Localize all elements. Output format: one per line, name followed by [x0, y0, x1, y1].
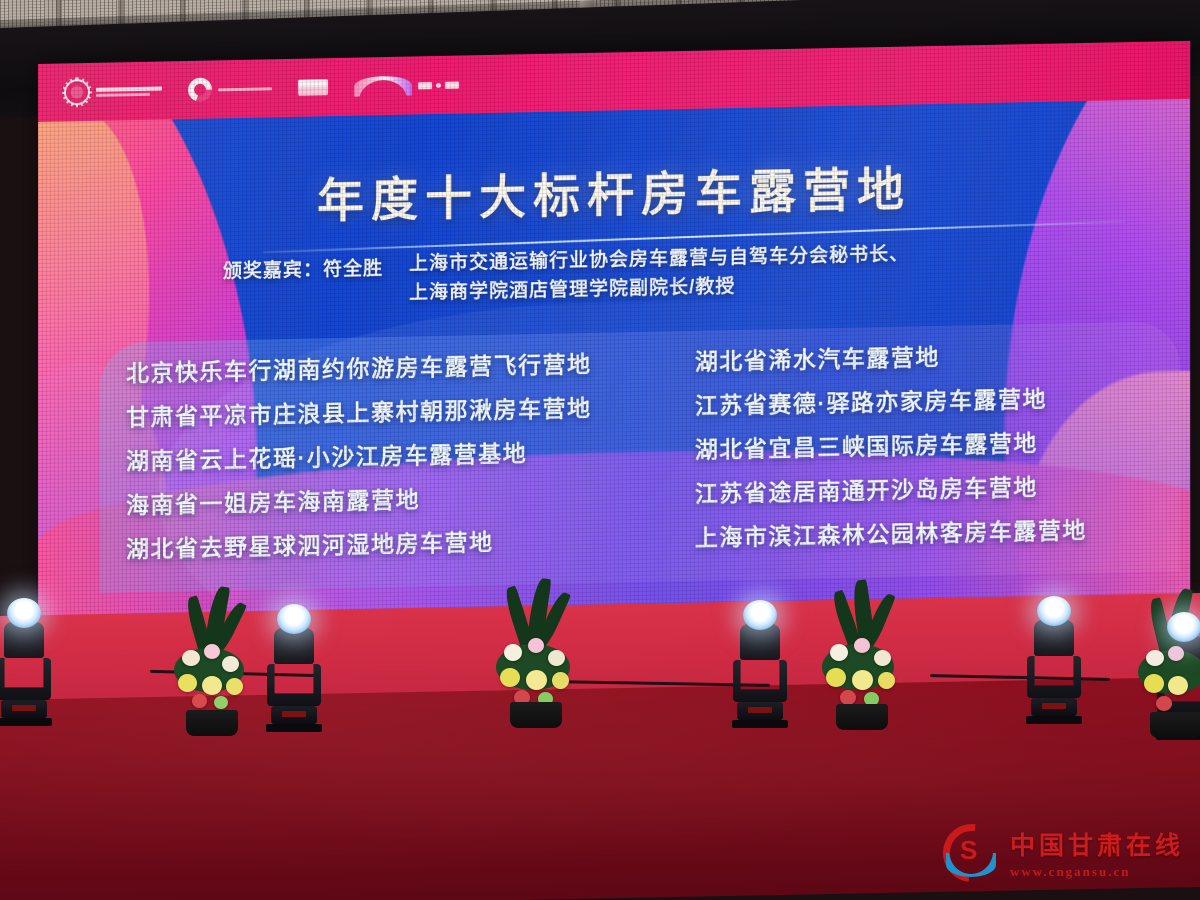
bloom	[826, 668, 846, 687]
gear-logo-wordmark	[96, 86, 162, 96]
gear-icon	[64, 79, 90, 106]
bloom	[192, 694, 207, 708]
flower-arrangement-4	[1120, 588, 1200, 738]
bloom	[204, 644, 220, 659]
bloom	[1144, 674, 1164, 693]
flower-arrangement-1	[152, 586, 272, 736]
light-yoke	[733, 660, 787, 702]
vase	[1150, 712, 1200, 738]
ring-logo-wordmark	[218, 87, 272, 91]
vase	[836, 704, 888, 730]
list-item: 上海市滨江森林公园林客房车露营地	[695, 509, 1186, 553]
bloom	[852, 670, 873, 690]
bloom	[840, 690, 856, 705]
flower-arrangement-2	[476, 578, 596, 728]
block-icon	[298, 79, 328, 96]
list-item: 甘肃省平凉市庄浪县上寨村朝那湫房车营地	[126, 388, 637, 432]
light-base	[1031, 698, 1077, 716]
light-lens	[7, 598, 41, 628]
moving-head-light-4	[1022, 596, 1086, 724]
bloom	[182, 650, 200, 666]
bloom	[1168, 676, 1188, 695]
arc-logo-wordmark	[418, 81, 459, 89]
light-yoke	[1027, 656, 1081, 698]
block-mark-logo	[298, 79, 328, 96]
ring-icon	[188, 78, 212, 102]
bloom	[1156, 696, 1172, 711]
light-base	[271, 706, 317, 724]
arc-wordmark-logo	[354, 75, 459, 97]
bloom	[528, 638, 544, 653]
watermark-site-name: 中国甘肃在线	[1010, 826, 1184, 862]
bloom	[548, 650, 565, 666]
watermark-site-url: www.cngansu.cn	[1010, 864, 1184, 880]
bloom	[874, 650, 891, 666]
bloom	[854, 638, 870, 653]
logo-s-glyph: S	[960, 836, 984, 864]
light-base	[1, 700, 47, 718]
bloom	[552, 672, 569, 689]
light-foot	[732, 720, 788, 728]
arc-icon	[354, 75, 412, 96]
bloom	[226, 678, 243, 695]
presenter-label: 颁奖嘉宾：	[223, 259, 323, 282]
bloom	[222, 656, 239, 672]
light-base	[737, 702, 783, 720]
cngansu-logo-icon: S	[943, 824, 1001, 882]
bloom	[830, 644, 848, 661]
bloom	[178, 674, 197, 692]
light-yoke	[267, 664, 321, 706]
light-lens	[277, 604, 311, 634]
light-foot	[0, 718, 52, 726]
moving-head-light-3	[728, 600, 792, 728]
light-foot	[1026, 716, 1082, 724]
light-foot	[266, 724, 322, 732]
flower-arrangement-3	[802, 580, 922, 730]
bloom	[214, 696, 228, 709]
watermark: S 中国甘肃在线 www.cngansu.cn	[943, 824, 1184, 882]
presenter-name: 符全胜	[323, 258, 383, 280]
gear-emblem-logo	[64, 78, 162, 106]
presenter-affiliation: 上海市交通运输行业协会房车露营与自驾车分会秘书长、 上海商学院酒店管理学院副院长…	[409, 243, 909, 306]
bloom	[878, 672, 895, 689]
bloom	[504, 644, 522, 661]
stage-photograph: 年度十大标杆房车露营地 颁奖嘉宾：符全胜 上海市交通运输行业协会房车露营与自驾车…	[0, 0, 1200, 900]
bloom	[202, 676, 222, 695]
list-item: 江苏省赛德·驿路亦家房车露营地	[695, 377, 1186, 421]
list-item: 湖北省宜昌三峡国际房车露营地	[695, 421, 1186, 465]
award-list-right-column: 湖北省浠水汽车露营地 江苏省赛德·驿路亦家房车露营地 湖北省宜昌三峡国际房车露营…	[695, 333, 1186, 583]
bloom	[500, 668, 520, 687]
list-item: 海南省一姐房车海南露营地	[126, 476, 637, 520]
list-item: 湖南省云上花瑶·小沙江房车露营基地	[126, 432, 637, 476]
list-item: 江苏省途居南通开沙岛房车营地	[695, 465, 1186, 509]
watermark-text: 中国甘肃在线 www.cngansu.cn	[1010, 826, 1184, 880]
light-yoke	[0, 658, 51, 700]
bloom	[526, 670, 547, 690]
presenter-line: 颁奖嘉宾：符全胜	[223, 253, 383, 283]
led-screen: 年度十大标杆房车露营地 颁奖嘉宾：符全胜 上海市交通运输行业协会房车露营与自驾车…	[38, 41, 1190, 624]
c-ring-logo	[188, 76, 272, 102]
award-list: 北京快乐车行湖南约你游房车露营飞行营地 甘肃省平凉市庄浪县上寨村朝那湫房车营地 …	[126, 333, 1186, 594]
bloom	[1146, 650, 1164, 666]
list-item: 湖北省去野星球泗河湿地房车营地	[126, 520, 637, 564]
moving-head-light-1	[0, 598, 56, 726]
light-lens	[1037, 596, 1071, 626]
vase	[510, 702, 562, 728]
vase	[186, 710, 238, 736]
bloom	[1168, 646, 1184, 661]
award-list-left-column: 北京快乐车行湖南约你游房车露营飞行营地 甘肃省平凉市庄浪县上寨村朝那湫房车营地 …	[126, 344, 637, 594]
light-lens	[1167, 612, 1200, 642]
light-lens	[743, 600, 777, 630]
